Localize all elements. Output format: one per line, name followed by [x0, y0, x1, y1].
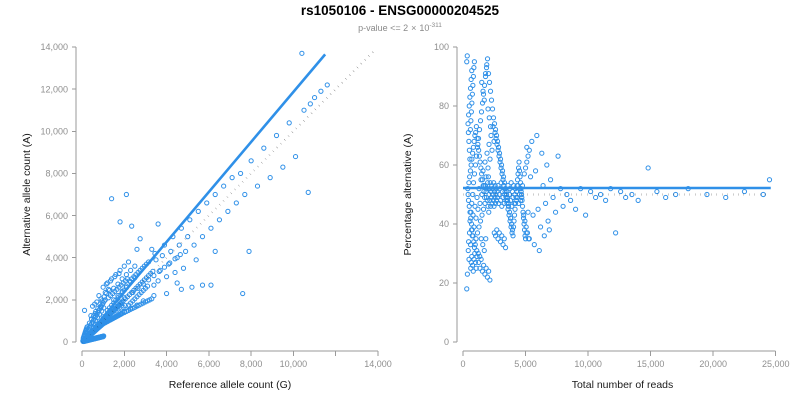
x-tick-label: 2,000	[113, 359, 136, 369]
page-title: rs1050106 - ENSG00000204525	[301, 3, 500, 18]
x-tick-label: 15,000	[637, 359, 665, 369]
x-axis-title: Reference allele count (G)	[169, 379, 292, 391]
y-tick-label: 10,000	[40, 126, 68, 136]
x-tick-label: 10,000	[280, 359, 308, 369]
y-tick-label: 80	[439, 101, 449, 111]
y-axis-title: Alternative allele count (A)	[21, 133, 33, 256]
y-tick-label: 60	[439, 160, 449, 170]
x-tick-label: 14,000	[364, 359, 392, 369]
x-tick-label: 0	[460, 359, 465, 369]
x-axis-title: Total number of reads	[572, 379, 674, 391]
x-tick-label: 25,000	[762, 359, 790, 369]
y-tick-label: 8,000	[45, 169, 68, 179]
subtitle-base: 10	[419, 23, 429, 33]
y-tick-label: 2,000	[45, 295, 68, 305]
x-tick-label: 8,000	[240, 359, 263, 369]
y-tick-label: 40	[439, 219, 449, 229]
x-tick-label: 20,000	[699, 359, 727, 369]
x-tick-label: 4,000	[155, 359, 178, 369]
y-tick-label: 0	[63, 337, 68, 347]
y-tick-label: 4,000	[45, 253, 68, 263]
x-tick-label: 0	[79, 359, 84, 369]
x-tick-label: 6,000	[198, 359, 221, 369]
figure-root: rs1050106 - ENSG00000204525 p-value <= 2…	[0, 0, 800, 400]
x-tick-label: 10,000	[574, 359, 602, 369]
y-tick-label: 12,000	[40, 84, 68, 94]
y-tick-label: 6,000	[45, 211, 68, 221]
subtitle-exponent: -311	[429, 22, 442, 29]
figure-background	[0, 0, 800, 400]
y-tick-label: 100	[434, 42, 449, 52]
y-tick-label: 20	[439, 278, 449, 288]
subtitle-prefix: p-value <= 2	[358, 23, 408, 33]
y-tick-label: 0	[444, 337, 449, 347]
x-tick-label: 5,000	[514, 359, 537, 369]
y-tick-label: 14,000	[40, 42, 68, 52]
y-axis-title: Percentage alternative (A)	[402, 134, 414, 256]
subtitle-times: ×	[411, 23, 416, 33]
